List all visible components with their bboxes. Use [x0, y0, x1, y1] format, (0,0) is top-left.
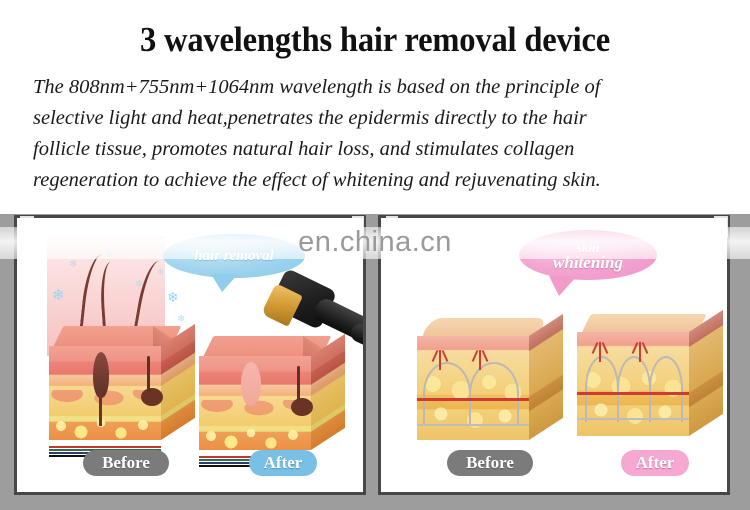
panel-hair-removal: ❄ ❄ ❄ ❄ ❄ ❄ ❄ — [14, 215, 366, 495]
description-paragraph: The 808nm+755nm+1064nm wavelength is bas… — [33, 72, 723, 196]
collagen-block-before — [417, 318, 567, 448]
fat-layer — [49, 416, 161, 446]
header-section: 3 wavelengths hair removal device The 80… — [0, 0, 750, 215]
paragraph-line: The 808nm+755nm+1064nm wavelength is bas… — [33, 72, 723, 103]
label-after-text: After — [264, 453, 303, 473]
blood-vessel-horizontal — [417, 398, 529, 401]
dermal-papilla — [291, 398, 313, 416]
label-after-text: After — [636, 453, 675, 473]
blood-vessel — [442, 350, 449, 362]
collagen-fiber — [585, 356, 619, 422]
snowflake-icon: ❄ — [167, 292, 179, 305]
collagen-fiber — [423, 362, 471, 426]
fascia-line — [417, 424, 529, 426]
speech-bubble-text: hair removal — [194, 248, 274, 265]
panel-skin-whitening: skin whitening Before After — [378, 215, 730, 495]
label-before: Before — [447, 450, 533, 476]
collagen-side-face — [689, 310, 723, 436]
hair-follicle-empty — [241, 362, 261, 406]
label-before: Before — [83, 450, 169, 476]
follicle-root — [99, 386, 102, 426]
blood-vessel — [599, 342, 601, 362]
blood-vessel — [479, 350, 481, 370]
snowflake-icon: ❄ — [52, 290, 65, 303]
blood-vessel-horizontal — [577, 392, 689, 395]
label-after: After — [249, 450, 317, 476]
blood-vessel — [592, 342, 599, 354]
skin-side-face — [161, 324, 195, 440]
product-infographic: 3 wavelengths hair removal device The 80… — [0, 0, 750, 510]
speech-bubble-hair-removal: hair removal — [163, 234, 305, 278]
blood-vessel — [632, 342, 639, 354]
label-after: After — [621, 450, 689, 476]
collagen-fiber — [469, 362, 519, 426]
snowflake-icon: ❄ — [177, 313, 185, 326]
speech-bubble-skin-whitening: skin whitening — [519, 230, 657, 280]
collagen-cross-section — [577, 332, 689, 436]
collagen-fiber — [649, 356, 683, 422]
speech-bubble-line1: skin — [553, 240, 623, 255]
label-before-text: Before — [466, 453, 514, 473]
follicle-canal — [297, 366, 300, 402]
skin-block-after — [199, 336, 347, 456]
blood-vessel — [639, 342, 641, 362]
speech-bubble-text: skin whitening — [553, 240, 623, 270]
label-before-text: Before — [102, 453, 150, 473]
page-title: 3 wavelengths hair removal device — [26, 20, 724, 60]
speech-bubble-tail — [549, 276, 577, 296]
speech-bubble-tail — [211, 274, 238, 292]
panel-hair-removal-canvas: ❄ ❄ ❄ ❄ ❄ ❄ ❄ — [17, 218, 363, 492]
collagen-side-face — [529, 314, 563, 440]
blood-vessel — [439, 350, 441, 370]
collagen-fiber — [617, 356, 651, 422]
collagen-cross-section — [417, 336, 529, 440]
blood-vessel — [482, 350, 489, 362]
dermal-papilla — [141, 388, 163, 406]
collagen-block-after — [577, 314, 727, 444]
follicle-canal — [147, 356, 150, 392]
blood-vessel — [472, 350, 479, 362]
paragraph-line: follicle tissue, promotes natural hair l… — [33, 134, 723, 165]
snowflake-icon: ❄ — [69, 258, 77, 271]
skin-block-before — [49, 326, 197, 446]
blood-vessel — [602, 342, 609, 354]
fascia-line — [577, 418, 689, 420]
skin-side-face — [311, 334, 345, 450]
blood-vessel — [642, 342, 649, 354]
speech-bubble-line2: whitening — [553, 255, 623, 270]
panel-skin-whitening-canvas: skin whitening Before After — [381, 218, 727, 492]
paragraph-line: selective light and heat,penetrates the … — [33, 103, 723, 134]
blood-vessel — [432, 350, 439, 362]
paragraph-line: regeneration to achieve the effect of wh… — [33, 165, 723, 196]
